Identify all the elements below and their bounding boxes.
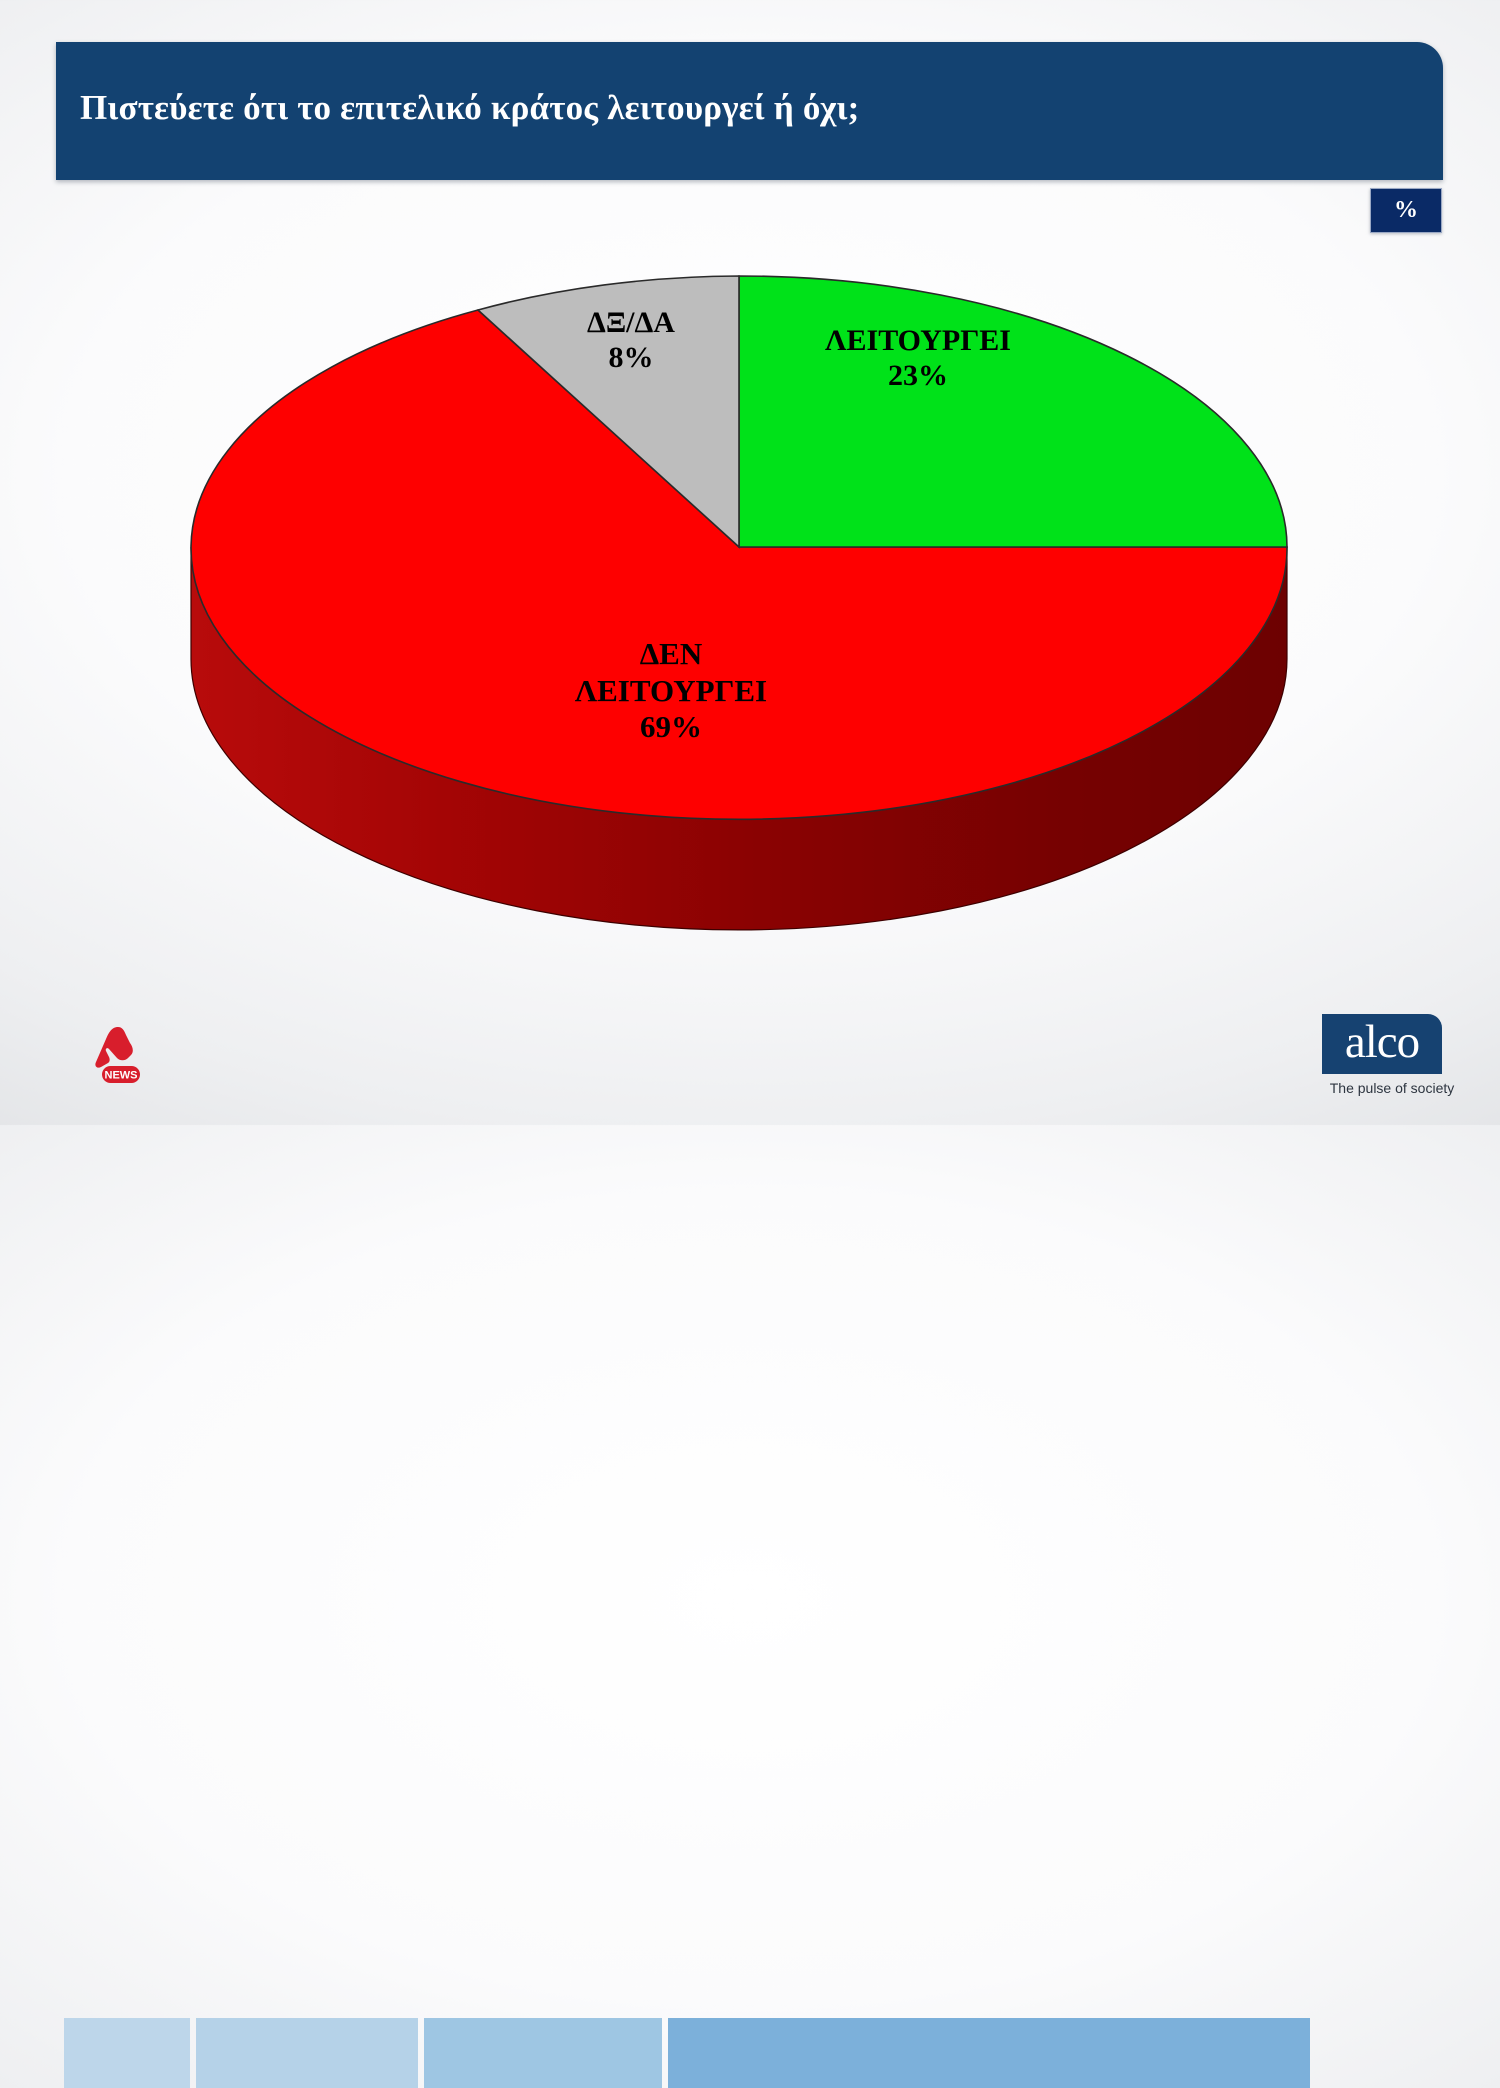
slide-canvas: Πιστεύετε ότι το επιτελικό κράτος λειτου… <box>0 0 1500 1125</box>
pie-chart-svg <box>0 0 1500 1000</box>
alco-wordmark: alco <box>1345 1019 1419 1066</box>
pie-chart: ΛΕΙΤΟΥΡΓΕΙ 23% ΔΞ/ΔΑ 8% ΔΕΝ ΛΕΙΤΟΥΡΓΕΙ 6… <box>0 0 1500 1000</box>
pie-label-den-leitourgei: ΔΕΝ ΛΕΙΤΟΥΡΓΕΙ 69% <box>521 636 821 746</box>
footer-bar-3 <box>424 2018 662 2088</box>
pie-label-dxda: ΔΞ/ΔΑ 8% <box>531 305 731 376</box>
footer-bar-1 <box>64 2018 190 2088</box>
footer <box>0 1000 1500 1125</box>
pie-slice-leitourgei[interactable] <box>739 276 1287 547</box>
footer-bar-2 <box>196 2018 418 2088</box>
pie-label-leitourgei: ΛΕΙΤΟΥΡΓΕΙ 23% <box>808 323 1028 394</box>
alpha-news-word: NEWS <box>105 1070 138 1082</box>
alco-tagline: The pulse of society <box>1322 1080 1462 1096</box>
footer-bar-4 <box>668 2018 1310 2088</box>
alpha-news-logo-icon: NEWS <box>90 1023 152 1085</box>
alco-logo: alco <box>1322 1014 1442 1074</box>
